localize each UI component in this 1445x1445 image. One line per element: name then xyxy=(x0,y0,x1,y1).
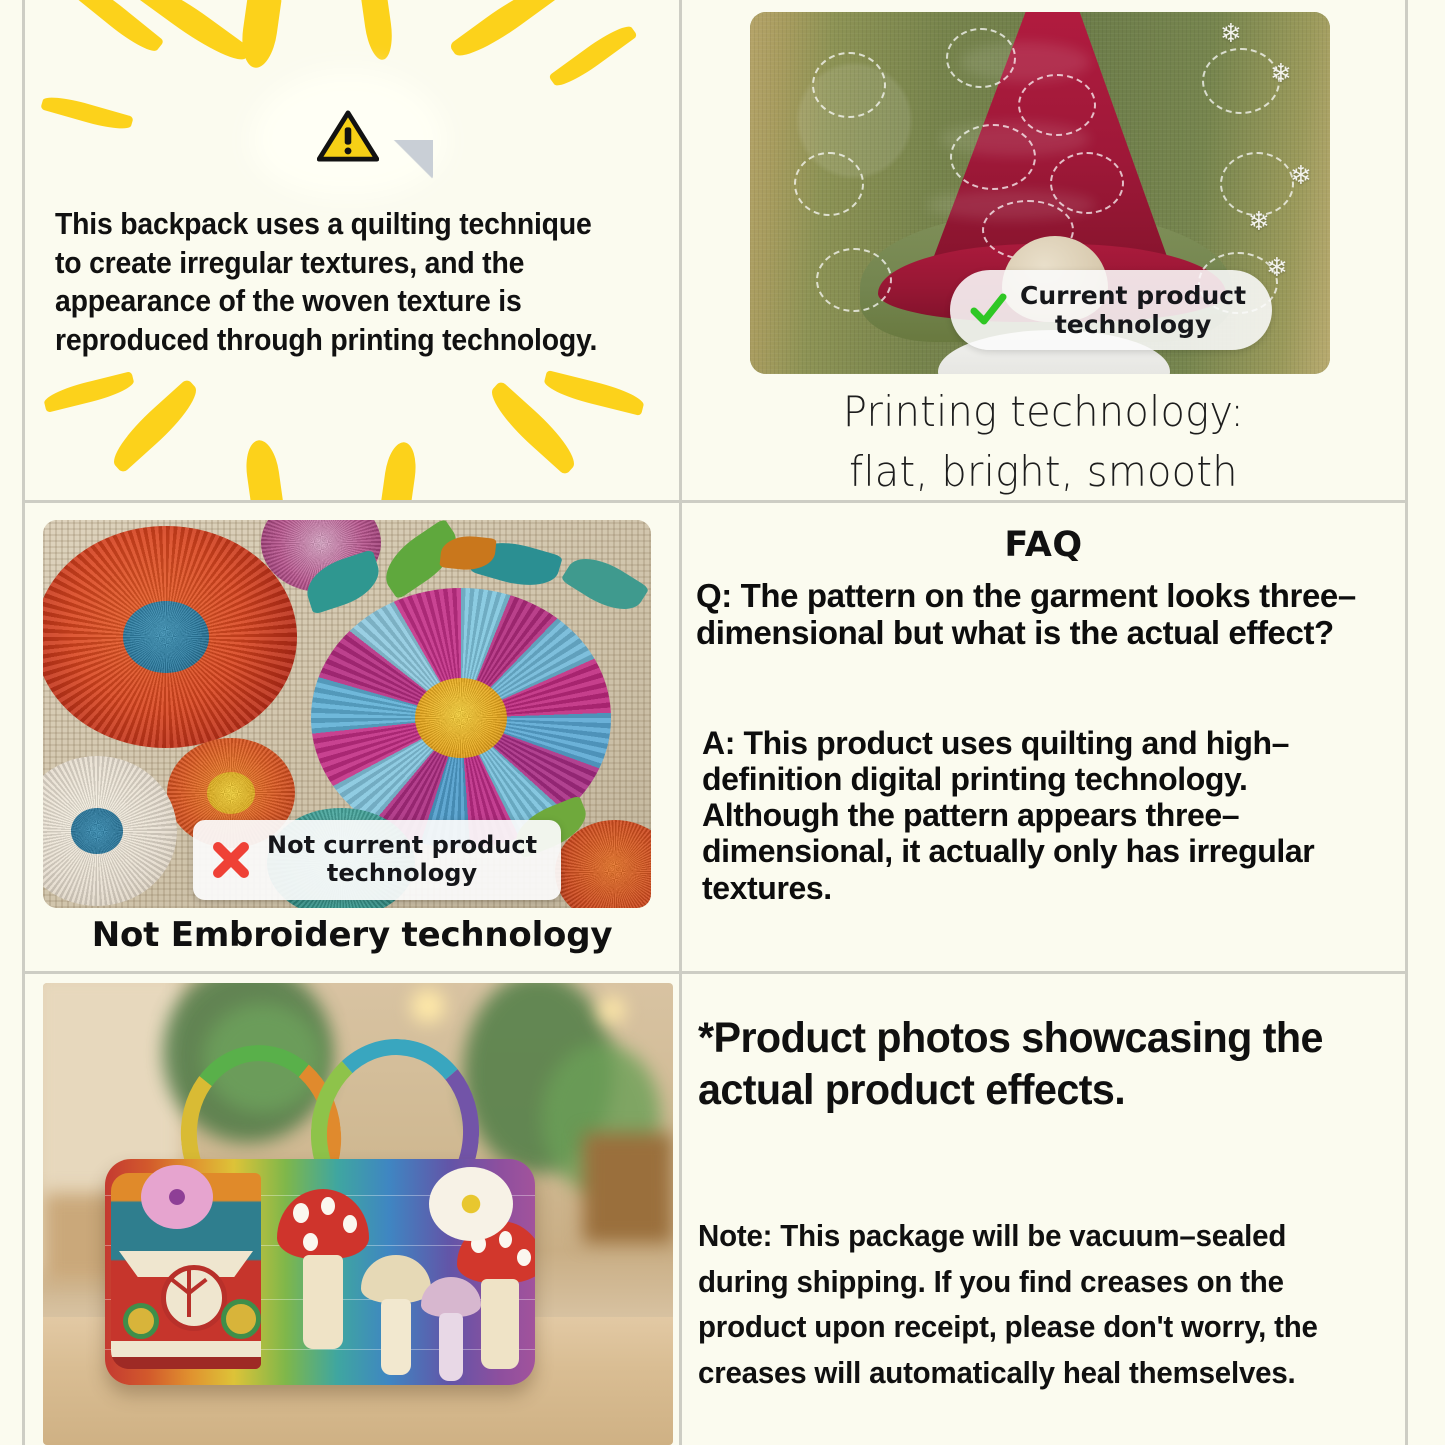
badge-line-1: Not current product xyxy=(267,832,537,860)
red-cross-icon xyxy=(209,838,253,882)
panel-bag-photo xyxy=(25,975,679,1445)
bag-body xyxy=(105,1159,535,1385)
green-check-icon xyxy=(968,290,1008,330)
panel-gnome: ❄ ❄ ❄ ❄ ❄ Current product technology Pri… xyxy=(682,0,1405,500)
warning-triangle-icon xyxy=(317,110,379,162)
quilted-bag-image xyxy=(43,983,673,1445)
product-photos-heading: *Product photos showcasing the actual pr… xyxy=(698,1013,1370,1116)
panel-yarn-flowers: Not current product technology Not Embro… xyxy=(25,503,679,972)
panel-warning: This backpack uses a quilting technique … xyxy=(25,0,679,500)
warning-text: This backpack uses a quilting technique … xyxy=(55,205,622,360)
snowflake-icon: ❄ xyxy=(1270,60,1292,86)
badge-line-2: technology xyxy=(267,860,537,888)
snowflake-icon: ❄ xyxy=(1248,208,1270,234)
not-embroidery-caption: Not Embroidery technology xyxy=(25,915,679,955)
printing-technology-caption: Printing technology: flat, bright, smoot… xyxy=(700,382,1387,501)
snowflake-icon: ❄ xyxy=(1220,20,1242,46)
not-current-technology-badge-text: Not current product technology xyxy=(267,832,537,888)
not-current-technology-badge: Not current product technology xyxy=(193,820,561,900)
current-technology-badge-text: Current product technology xyxy=(1020,281,1246,339)
faq-question: Q: The pattern on the garment looks thre… xyxy=(696,578,1402,652)
infographic-page: This backpack uses a quilting technique … xyxy=(0,0,1445,1445)
snowflake-icon: ❄ xyxy=(1290,162,1312,188)
panel-note: *Product photos showcasing the actual pr… xyxy=(682,975,1405,1445)
badge-line-1: Current product xyxy=(1020,281,1246,310)
gnome-quilt-image: ❄ ❄ ❄ ❄ ❄ Current product technology xyxy=(750,12,1330,374)
faq-answer: A: This product uses quilting and high–d… xyxy=(702,725,1402,906)
shipping-note-text: Note: This package will be vacuum–sealed… xyxy=(698,1213,1369,1395)
bubble-fold-corner xyxy=(393,140,433,180)
badge-line-2: technology xyxy=(1020,310,1246,339)
divider-right xyxy=(1405,0,1408,1445)
yarn-flowers-image: Not current product technology xyxy=(43,520,651,908)
panel-faq: FAQ Q: The pattern on the garment looks … xyxy=(682,503,1405,972)
printing-caption-line-2: flat, bright, smooth xyxy=(700,442,1387,502)
current-technology-badge: Current product technology xyxy=(950,270,1272,350)
faq-title: FAQ xyxy=(682,525,1405,565)
printing-caption-line-1: Printing technology: xyxy=(700,382,1387,442)
snowflake-icon: ❄ xyxy=(1266,254,1288,280)
